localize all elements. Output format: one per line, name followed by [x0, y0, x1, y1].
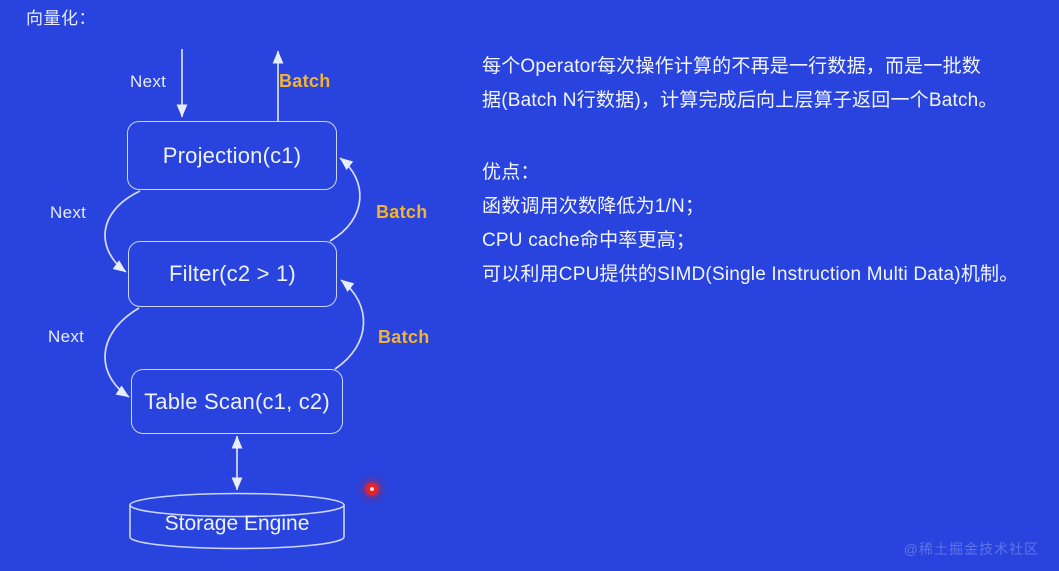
description-panel: 每个Operator每次操作计算的不再是一行数据，而是一批数 据(Batch N… — [482, 50, 1027, 292]
storage-engine-cylinder[interactable]: Storage Engine — [128, 492, 346, 550]
intro-line: 每个Operator每次操作计算的不再是一行数据，而是一批数 — [482, 50, 1027, 84]
advantage-item: CPU cache命中率更高； — [482, 224, 1027, 258]
edge-label-next-top: Next — [130, 72, 166, 92]
advantages-heading: 优点： — [482, 156, 1027, 190]
watermark: @稀土掘金技术社区 — [904, 539, 1039, 559]
edge-label-next-filter-tablescan: Next — [48, 327, 84, 347]
edge-label-batch-tablescan-filter: Batch — [378, 327, 430, 348]
storage-engine-label: Storage Engine — [128, 512, 346, 536]
arrow-batch-tablescan-filter — [335, 280, 364, 369]
edge-label-next-projection-filter: Next — [50, 203, 86, 223]
operator-box-table-scan[interactable]: Table Scan(c1, c2) — [131, 369, 343, 434]
operator-box-filter[interactable]: Filter(c2 > 1) — [128, 241, 337, 307]
operator-box-projection[interactable]: Projection(c1) — [127, 121, 337, 190]
laser-pointer-dot — [366, 483, 378, 495]
slide-canvas: 向量化： — [0, 0, 1059, 571]
intro-line: 据(Batch N行数据)，计算完成后向上层算子返回一个Batch。 — [482, 84, 1027, 118]
advantage-item: 可以利用CPU提供的SIMD(Single Instruction Multi … — [482, 258, 1027, 292]
vectorization-diagram: Projection(c1) Filter(c2 > 1) Table Scan… — [0, 0, 470, 571]
edge-label-batch-filter-projection: Batch — [376, 202, 428, 223]
intro-paragraph: 每个Operator每次操作计算的不再是一行数据，而是一批数 据(Batch N… — [482, 50, 1027, 118]
edge-label-batch-top: Batch — [279, 71, 331, 92]
advantage-item: 函数调用次数降低为1/N； — [482, 190, 1027, 224]
advantages-block: 优点： 函数调用次数降低为1/N； CPU cache命中率更高； 可以利用CP… — [482, 156, 1027, 292]
